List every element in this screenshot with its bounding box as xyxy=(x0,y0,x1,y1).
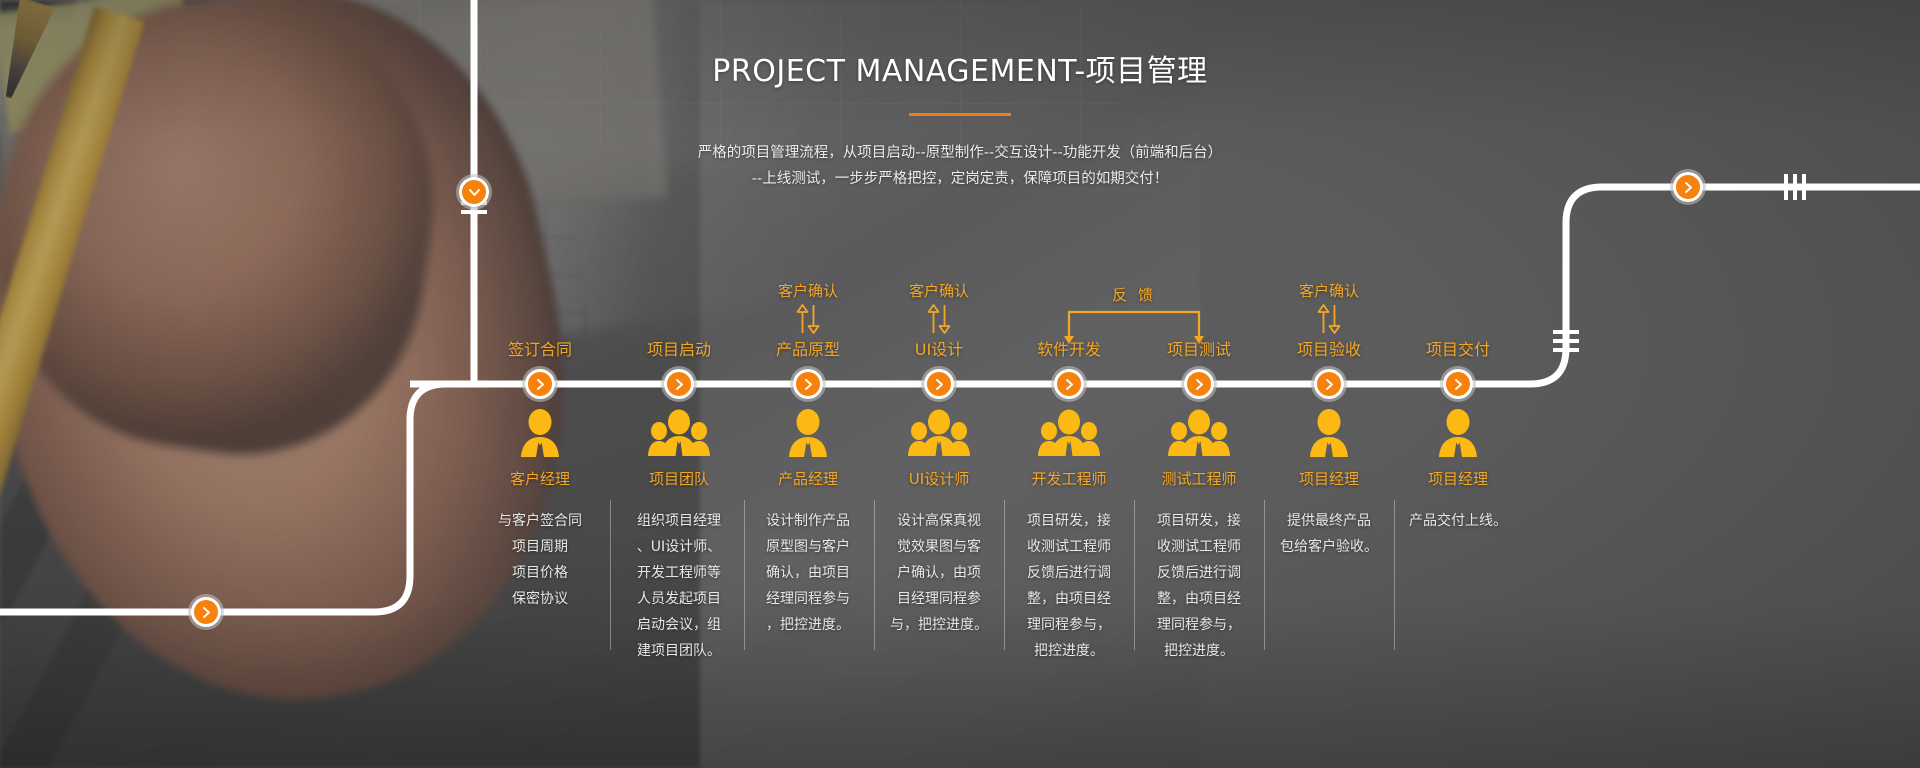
column-divider-4 xyxy=(1004,500,1005,650)
chevron-right-icon xyxy=(1324,378,1335,391)
chevron-right-icon xyxy=(1064,378,1075,391)
single-person-icon xyxy=(518,408,562,460)
chevron-right-icon xyxy=(934,378,945,391)
single-person-icon-8 xyxy=(1383,408,1533,464)
step-node-3[interactable] xyxy=(793,369,823,399)
desc-line: 收测试工程师 xyxy=(1146,534,1252,560)
timeline-steps: 签订合同客户经理与客户签合同项目周期项目价格保密协议项目启动项目团队组织项目经理… xyxy=(0,0,1920,768)
single-person-icon xyxy=(1307,408,1351,460)
step-description-6: 项目研发，接收测试工程师反馈后进行调整，由项目经理同程参与，把控进度。 xyxy=(1146,508,1252,664)
desc-line: 整，由项目经 xyxy=(1016,586,1122,612)
desc-line: 项目研发，接 xyxy=(1146,508,1252,534)
desc-line: 启动会议，组 xyxy=(626,612,732,638)
desc-line: 目经理同程参 xyxy=(886,586,992,612)
step-node-8[interactable] xyxy=(1443,369,1473,399)
desc-line: 与客户签合同 xyxy=(487,508,593,534)
step-node-1[interactable] xyxy=(525,369,555,399)
step-role-2: 项目团队 xyxy=(604,468,754,489)
desc-line: 项目研发，接 xyxy=(1016,508,1122,534)
single-person-icon-3 xyxy=(733,408,883,464)
desc-line: 户确认，由项 xyxy=(886,560,992,586)
desc-line: 包给客户验收。 xyxy=(1276,534,1382,560)
step-role-8: 项目经理 xyxy=(1383,468,1533,489)
step-role-6: 测试工程师 xyxy=(1124,468,1274,489)
desc-line: 设计制作产品 xyxy=(755,508,861,534)
desc-line: 组织项目经理 xyxy=(626,508,732,534)
up-down-arrow-icon xyxy=(925,304,953,334)
step-role-3: 产品经理 xyxy=(733,468,883,489)
single-person-icon-7 xyxy=(1254,408,1404,464)
customer-confirm-arrow-7 xyxy=(1254,304,1404,338)
step-description-2: 组织项目经理、UI设计师、开发工程师等人员发起项目启动会议，组建项目团队。 xyxy=(626,508,732,664)
desc-line: 收测试工程师 xyxy=(1016,534,1122,560)
step-role-1: 客户经理 xyxy=(465,468,615,489)
chevron-right-icon xyxy=(535,378,546,391)
customer-confirm-label-3: 客户确认 xyxy=(733,280,883,301)
chevron-right-icon xyxy=(1194,378,1205,391)
desc-line: 产品交付上线。 xyxy=(1405,508,1511,534)
customer-confirm-label-4: 客户确认 xyxy=(864,280,1014,301)
step-description-1: 与客户签合同项目周期项目价格保密协议 xyxy=(487,508,593,612)
step-name-3: 产品原型 xyxy=(733,336,883,360)
customer-confirm-label-7: 客户确认 xyxy=(1254,280,1404,301)
column-divider-1 xyxy=(610,500,611,650)
column-divider-6 xyxy=(1264,500,1265,650)
desc-line: 理同程参与， xyxy=(1146,612,1252,638)
up-down-arrow-icon xyxy=(1315,304,1343,334)
step-node-4[interactable] xyxy=(924,369,954,399)
desc-line: 经理同程参与 xyxy=(755,586,861,612)
step-name-6: 项目测试 xyxy=(1124,336,1274,360)
step-node-7[interactable] xyxy=(1314,369,1344,399)
step-role-7: 项目经理 xyxy=(1254,468,1404,489)
group-people-icon-2 xyxy=(604,408,754,464)
column-divider-2 xyxy=(744,500,745,650)
step-description-5: 项目研发，接收测试工程师反馈后进行调整，由项目经理同程参与，把控进度。 xyxy=(1016,508,1122,664)
desc-line: 把控进度。 xyxy=(1016,638,1122,664)
desc-line: 觉效果图与客 xyxy=(886,534,992,560)
step-name-4: UI设计 xyxy=(864,336,1014,360)
group-people-icon xyxy=(1038,408,1100,460)
step-description-3: 设计制作产品原型图与客户确认，由项目经理同程参与，把控进度。 xyxy=(755,508,861,638)
desc-line: 与，把控进度。 xyxy=(886,612,992,638)
step-node-6[interactable] xyxy=(1184,369,1214,399)
group-people-icon xyxy=(908,408,970,460)
desc-line: 反馈后进行调 xyxy=(1016,560,1122,586)
step-name-1: 签订合同 xyxy=(465,336,615,360)
group-people-icon-4 xyxy=(864,408,1014,464)
desc-line: 整，由项目经 xyxy=(1146,586,1252,612)
column-divider-7 xyxy=(1394,500,1395,650)
group-people-icon xyxy=(1168,408,1230,460)
single-person-icon xyxy=(1436,408,1480,460)
desc-line: ，把控进度。 xyxy=(755,612,861,638)
column-divider-5 xyxy=(1134,500,1135,650)
group-people-icon-6 xyxy=(1124,408,1274,464)
desc-line: 项目价格 xyxy=(487,560,593,586)
desc-line: 理同程参与， xyxy=(1016,612,1122,638)
feedback-label: 反 馈 xyxy=(1094,284,1174,305)
desc-line: 开发工程师等 xyxy=(626,560,732,586)
desc-line: 设计高保真视 xyxy=(886,508,992,534)
up-down-arrow-icon xyxy=(794,304,822,334)
step-node-2[interactable] xyxy=(664,369,694,399)
step-node-5[interactable] xyxy=(1054,369,1084,399)
desc-line: 人员发起项目 xyxy=(626,586,732,612)
chevron-right-icon xyxy=(803,378,814,391)
customer-confirm-arrow-3 xyxy=(733,304,883,338)
step-name-7: 项目验收 xyxy=(1254,336,1404,360)
desc-line: 原型图与客户 xyxy=(755,534,861,560)
step-description-7: 提供最终产品包给客户验收。 xyxy=(1276,508,1382,560)
step-name-8: 项目交付 xyxy=(1383,336,1533,360)
column-divider-3 xyxy=(874,500,875,650)
step-description-8: 产品交付上线。 xyxy=(1405,508,1511,534)
single-person-icon-1 xyxy=(465,408,615,464)
step-description-4: 设计高保真视觉效果图与客户确认，由项目经理同程参与，把控进度。 xyxy=(886,508,992,638)
step-name-5: 软件开发 xyxy=(994,336,1144,360)
desc-line: 、UI设计师、 xyxy=(626,534,732,560)
desc-line: 项目周期 xyxy=(487,534,593,560)
single-person-icon xyxy=(786,408,830,460)
step-name-2: 项目启动 xyxy=(604,336,754,360)
desc-line: 保密协议 xyxy=(487,586,593,612)
chevron-right-icon xyxy=(1453,378,1464,391)
step-role-5: 开发工程师 xyxy=(994,468,1144,489)
desc-line: 建项目团队。 xyxy=(626,638,732,664)
group-people-icon xyxy=(648,408,710,460)
desc-line: 确认，由项目 xyxy=(755,560,861,586)
customer-confirm-arrow-4 xyxy=(864,304,1014,338)
chevron-right-icon xyxy=(674,378,685,391)
desc-line: 反馈后进行调 xyxy=(1146,560,1252,586)
desc-line: 提供最终产品 xyxy=(1276,508,1382,534)
desc-line: 把控进度。 xyxy=(1146,638,1252,664)
step-role-4: UI设计师 xyxy=(864,468,1014,489)
group-people-icon-5 xyxy=(994,408,1144,464)
